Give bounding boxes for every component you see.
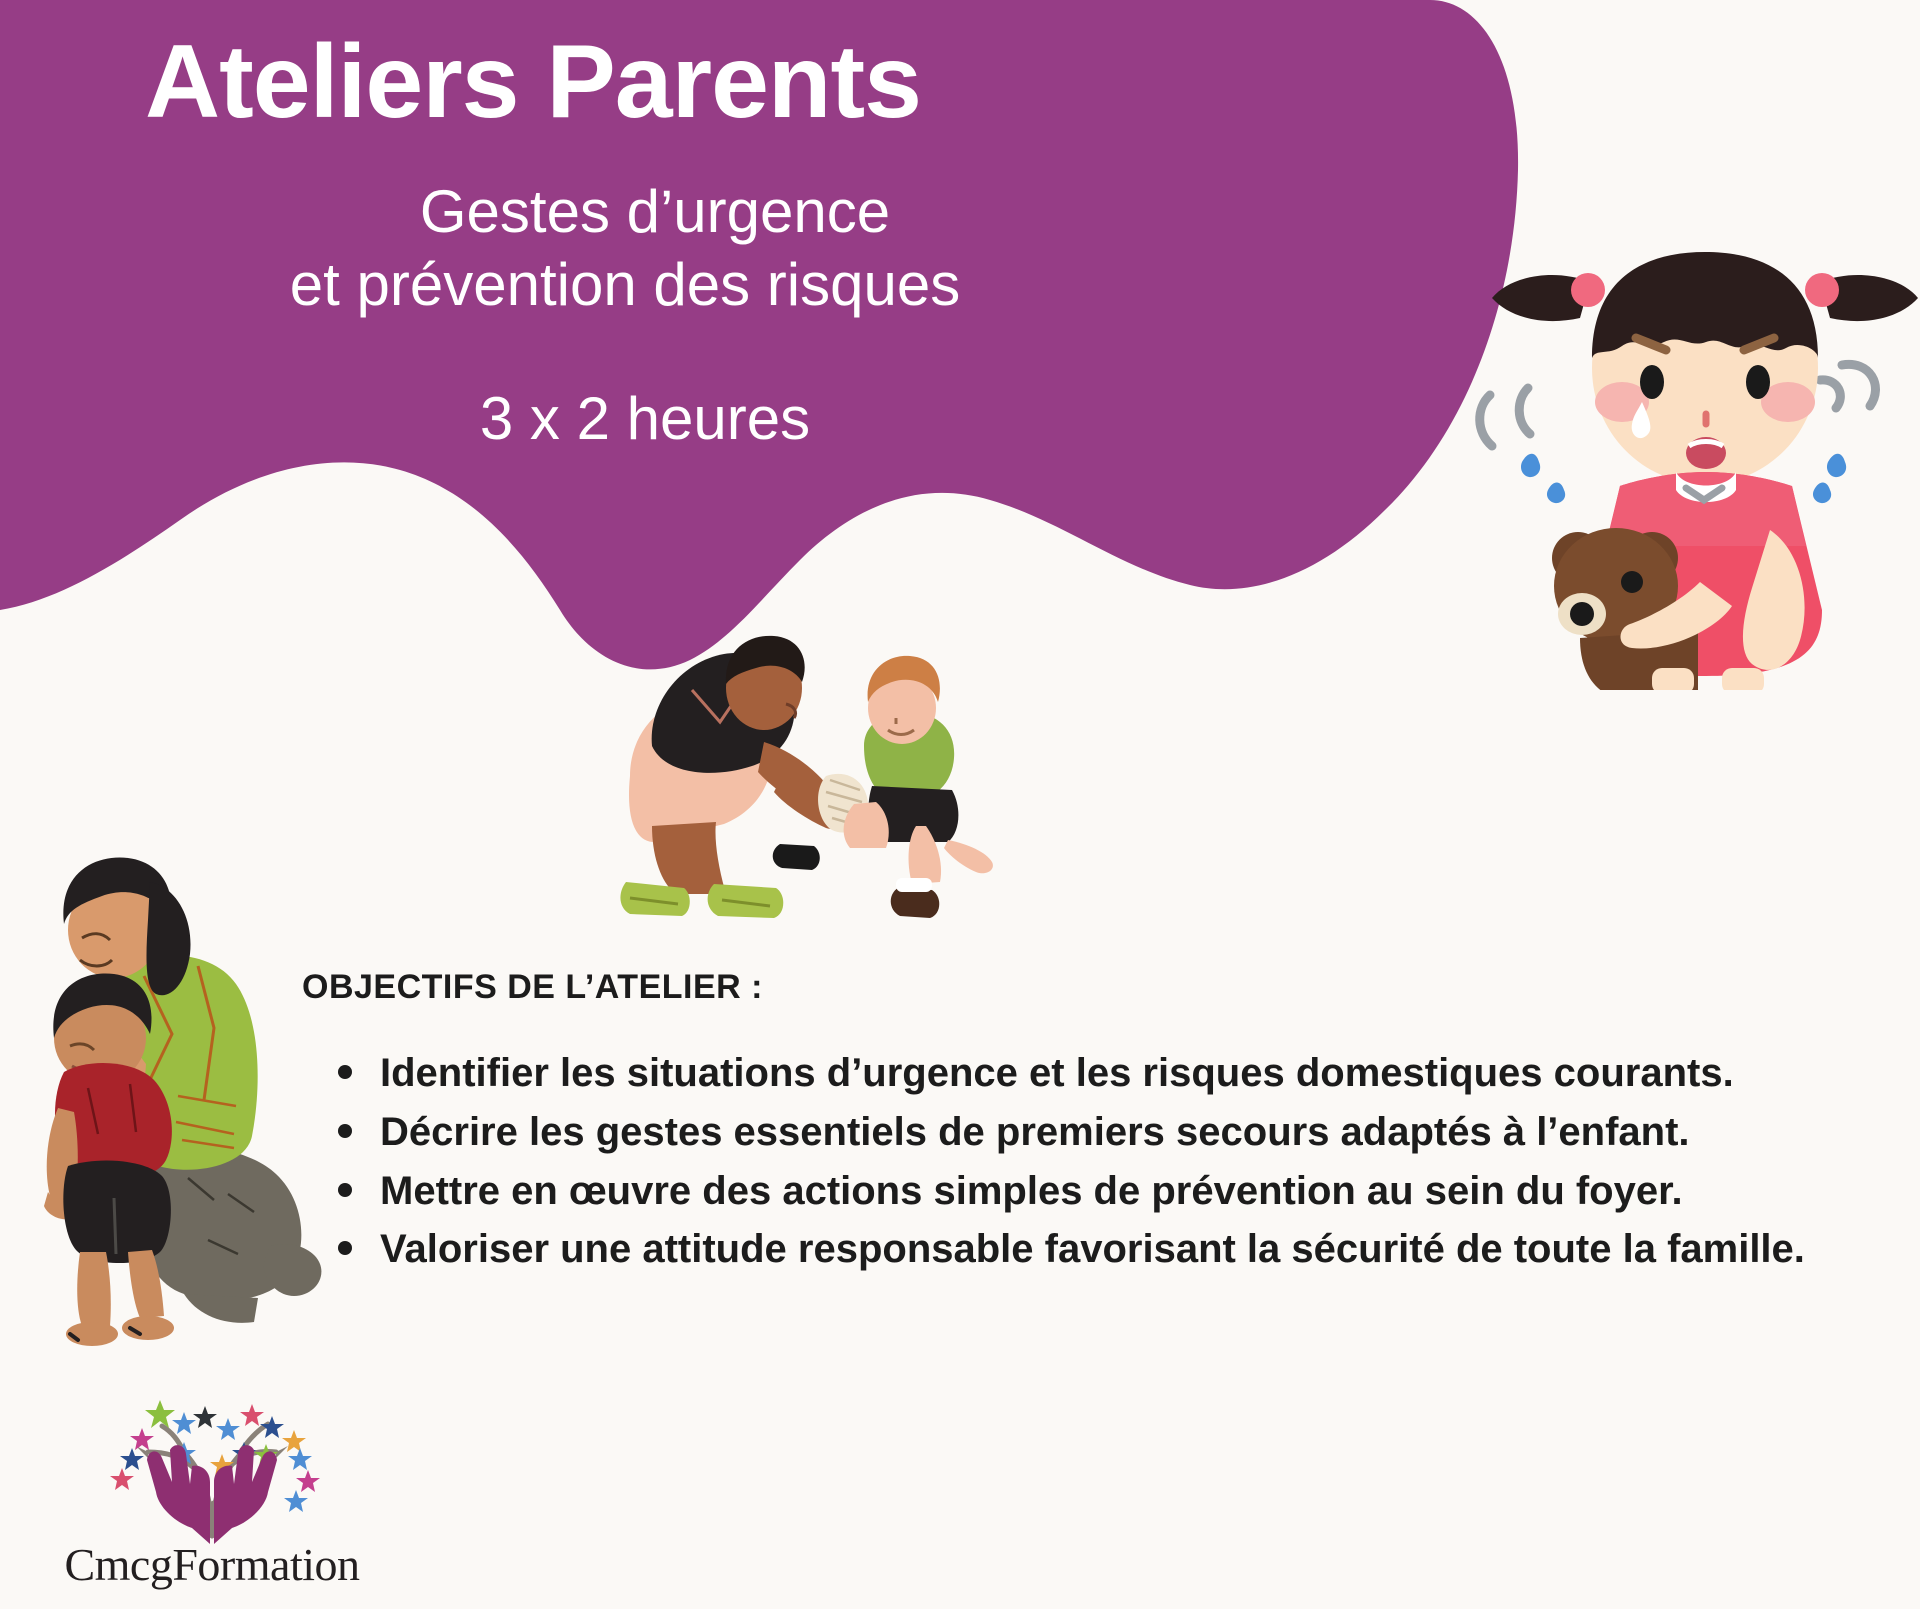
- objective-text: Décrire les gestes essentiels de premier…: [380, 1110, 1690, 1154]
- objective-text: Mettre en œuvre des actions simples de p…: [380, 1169, 1683, 1213]
- cmcg-tree-hands-logo-icon: [62, 1386, 362, 1546]
- objectives-heading: OBJECTIFS DE L’ATELIER :: [302, 968, 1902, 1007]
- objectives-section: OBJECTIFS DE L’ATELIER : Identifier les …: [302, 968, 1902, 1286]
- logo-name: CmcgFormation: [62, 1538, 362, 1591]
- bullet-icon: [338, 1241, 352, 1255]
- objective-text: Identifier les situations d’urgence et l…: [380, 1051, 1734, 1095]
- list-item: Mettre en œuvre des actions simples de p…: [302, 1169, 1850, 1214]
- bullet-icon: [338, 1065, 352, 1079]
- mother-comforting-child-icon: [18, 848, 330, 1358]
- objectives-list: Identifier les situations d’urgence et l…: [302, 1051, 1902, 1272]
- list-item: Décrire les gestes essentiels de premier…: [302, 1110, 1850, 1155]
- list-item: Identifier les situations d’urgence et l…: [302, 1051, 1850, 1096]
- crying-girl-with-teddy-icon: [1470, 190, 1920, 690]
- objective-text: Valoriser une attitude responsable favor…: [380, 1227, 1805, 1271]
- bullet-icon: [338, 1124, 352, 1138]
- list-item: Valoriser une attitude responsable favor…: [302, 1227, 1850, 1272]
- poster-canvas: Ateliers Parents Gestes d’urgence et pré…: [0, 0, 1920, 1609]
- bullet-icon: [338, 1183, 352, 1197]
- logo-block: CmcgFormation: [62, 1386, 362, 1598]
- adult-bandaging-child-icon: [596, 626, 1006, 946]
